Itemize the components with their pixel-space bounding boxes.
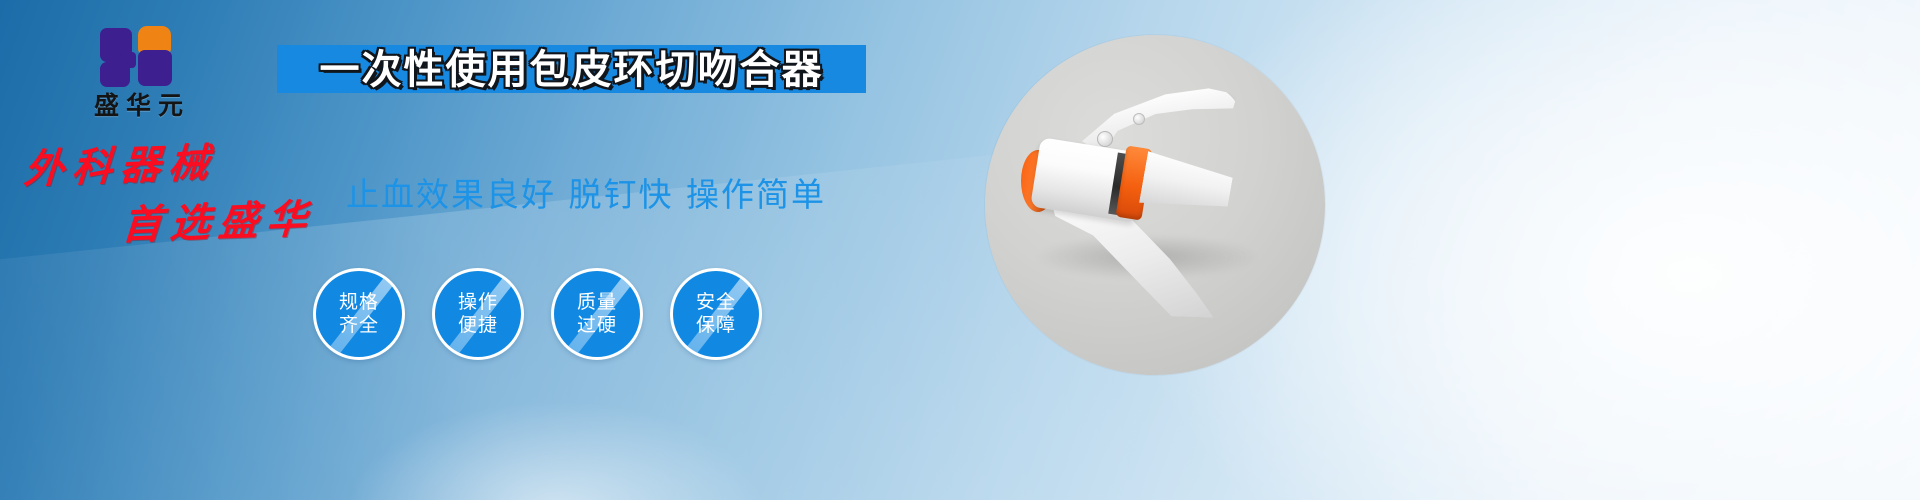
- product-title-bar: 一次性使用包皮环切吻合器: [277, 45, 866, 93]
- feature-circle-4[interactable]: 安全 保障: [670, 268, 762, 360]
- brand-blocks-icon: [100, 26, 178, 88]
- feature-circle-1-line1: 规格: [339, 291, 379, 314]
- stapler-nose-cone: [1139, 148, 1236, 220]
- stapler-hinge-primary: [1097, 131, 1113, 147]
- feature-circle-1-line2: 齐全: [339, 314, 379, 337]
- page-title: 一次性使用包皮环切吻合器: [320, 50, 824, 90]
- feature-circle-list: 规格 齐全 操作 便捷 质量 过硬 安全 保障: [313, 268, 762, 360]
- logo-block-lower-left: [100, 62, 130, 87]
- slogan-calligraphy: 外科器械 首选盛华: [18, 150, 348, 246]
- stapler-hinge-secondary: [1133, 113, 1145, 125]
- feature-circle-2-line1: 操作: [458, 291, 498, 314]
- feature-circle-2[interactable]: 操作 便捷: [432, 268, 524, 360]
- feature-circle-3[interactable]: 质量 过硬: [551, 268, 643, 360]
- feature-circle-1[interactable]: 规格 齐全: [313, 268, 405, 360]
- feature-circle-3-line2: 过硬: [577, 314, 617, 337]
- product-subtitle: 止血效果良好 脱钉快 操作简单: [346, 168, 826, 216]
- logo-block-lower-right: [138, 50, 172, 86]
- feature-circle-4-line1: 安全: [696, 291, 736, 314]
- background-glow: [346, 400, 766, 500]
- product-image: [985, 35, 1325, 375]
- feature-circle-3-line1: 质量: [577, 291, 617, 314]
- brand-logo[interactable]: 盛华元: [56, 26, 221, 119]
- slogan-line-1: 外科器械: [23, 139, 351, 190]
- brand-name: 盛华元: [56, 92, 221, 119]
- feature-circle-2-line2: 便捷: [458, 314, 498, 337]
- promo-banner: 盛华元 一次性使用包皮环切吻合器 外科器械 首选盛华 止血效果良好 脱钉快 操作…: [0, 0, 1920, 500]
- feature-circle-4-line2: 保障: [696, 314, 736, 337]
- slogan-line-2: 首选盛华: [121, 198, 350, 246]
